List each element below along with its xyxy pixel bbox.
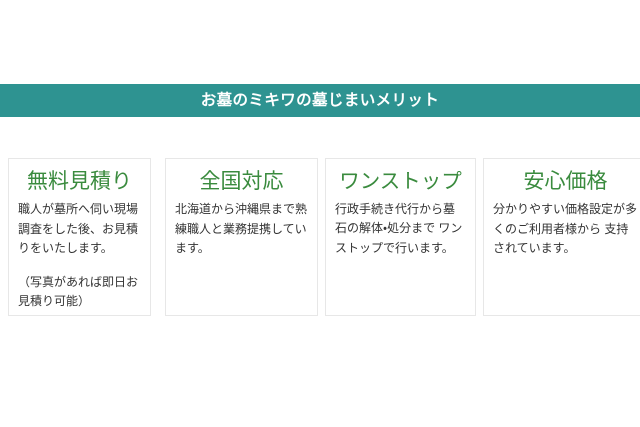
merits-banner: お墓のミキワの墓じまいメリット xyxy=(0,84,640,117)
benefit-card-one-stop: ワンストップ 行政手続き代行から墓石の解体・処分まで ワンストップで行います。 xyxy=(325,158,476,316)
benefit-card-heading: 無料見積り xyxy=(18,169,141,195)
benefit-card-heading: 安心価格 xyxy=(493,169,638,195)
benefit-card-paragraph: 分かりやすい価格設定が多くのご利用者様から 支持されています。 xyxy=(493,200,638,258)
banner-title: お墓のミキワの墓じまいメリット xyxy=(201,93,440,109)
benefit-card-heading: 全国対応 xyxy=(175,169,308,195)
benefit-card-free-estimate: 無料見積り 職人が墓所へ伺い現場調査をした後、お見積りをいたします。 （写真があ… xyxy=(8,158,151,316)
benefit-card-nationwide: 全国対応 北海道から沖縄県まで熟練職人と業務提携しています。 xyxy=(165,158,318,316)
benefit-card-paragraph: 北海道から沖縄県まで熟練職人と業務提携しています。 xyxy=(175,200,308,258)
benefit-card-paragraph: 職人が墓所へ伺い現場調査をした後、お見積りをいたします。 xyxy=(18,200,141,258)
benefit-card-paragraph: （写真があれば即日お見積り可能） xyxy=(18,273,141,312)
benefit-card-paragraph: 行政手続き代行から墓石の解体・処分まで ワンストップで行います。 xyxy=(335,200,466,258)
benefit-card-fair-price: 安心価格 分かりやすい価格設定が多くのご利用者様から 支持されています。 xyxy=(483,158,640,316)
benefit-card-list: 無料見積り 職人が墓所へ伺い現場調査をした後、お見積りをいたします。 （写真があ… xyxy=(0,158,640,318)
benefit-card-heading: ワンストップ xyxy=(335,169,466,195)
